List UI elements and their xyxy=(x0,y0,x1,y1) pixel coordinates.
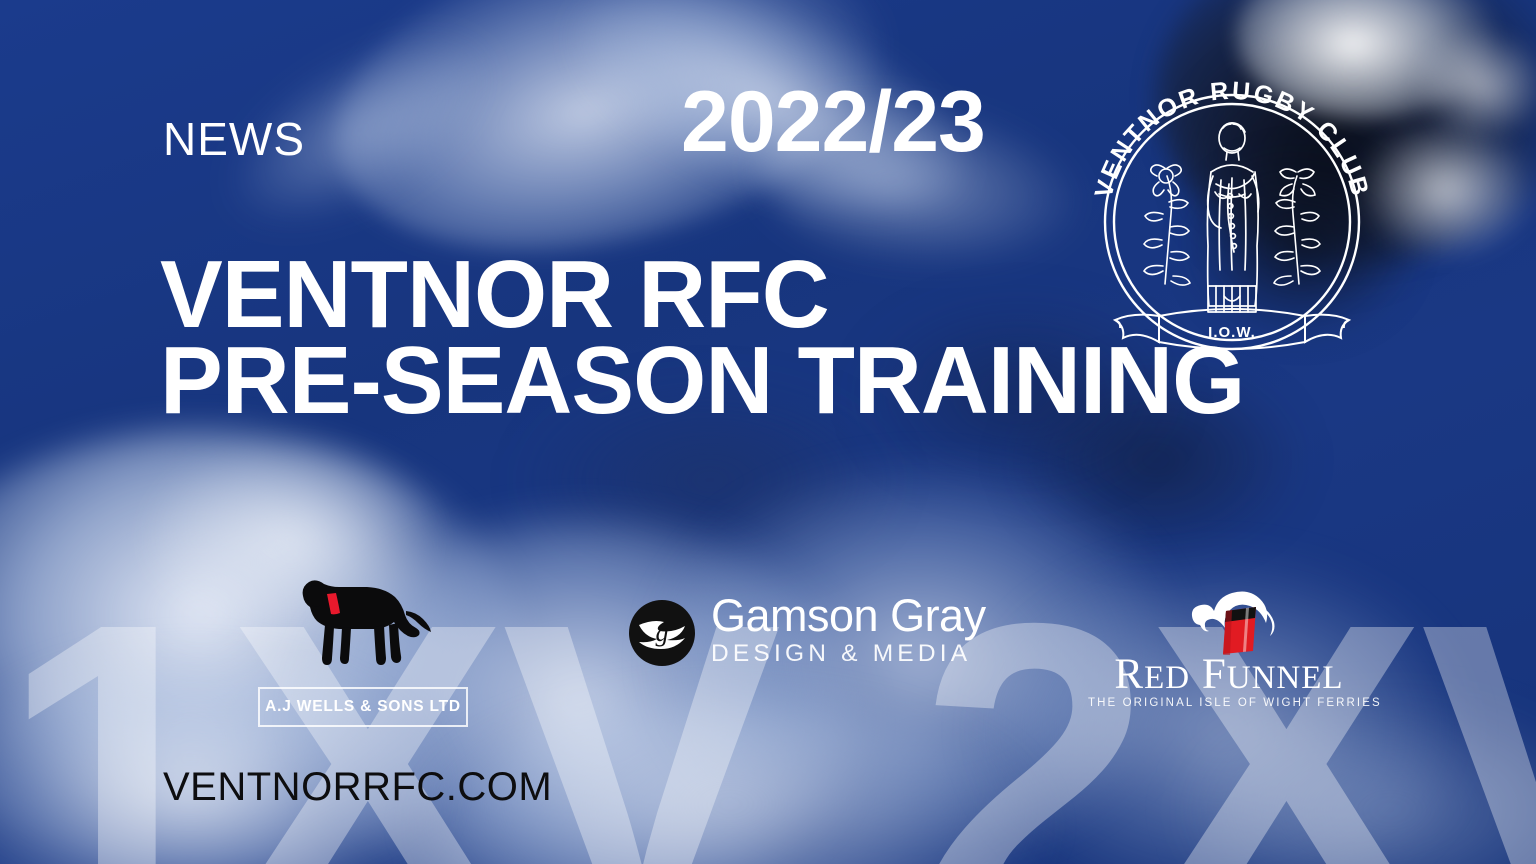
crest-banner-text: I.O.W. xyxy=(1208,324,1256,341)
season-label: 2022/23 xyxy=(681,79,985,165)
news-poster: 1XV 2XV NEWS 2022/23 VENTNOR RFC PRE-SEA… xyxy=(0,0,1536,864)
news-label: NEWS xyxy=(163,112,305,166)
headline-line-1: VENTNOR RFC xyxy=(160,252,1244,338)
website-url[interactable]: VENTNORRFC.COM xyxy=(163,765,552,810)
headline-line-2: PRE-SEASON TRAINING xyxy=(160,338,1244,424)
ventnor-rugby-club-crest-icon: VENTNOR RUGBY CLUB xyxy=(1093,72,1371,354)
